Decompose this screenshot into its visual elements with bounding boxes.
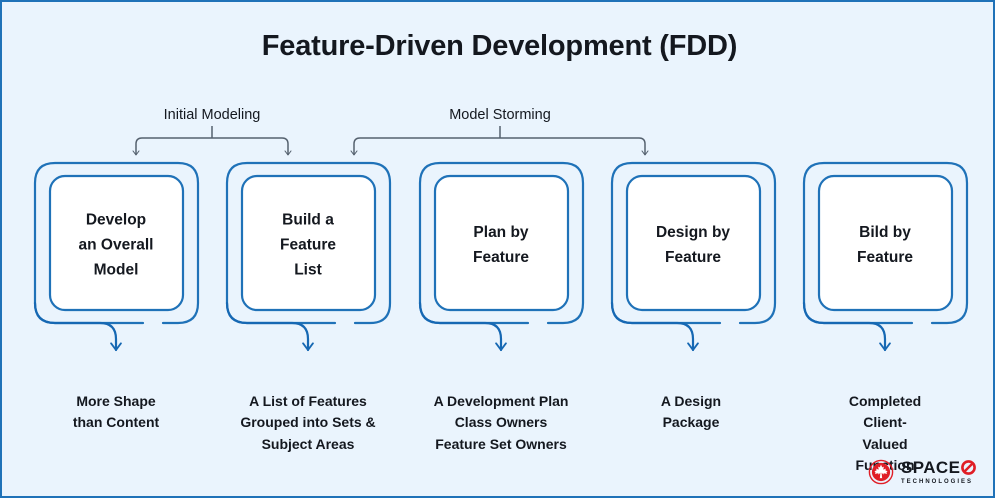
bracket-model-storming (354, 126, 645, 155)
step-label-1: Develop an Overall Model (79, 207, 154, 282)
slashed-o-icon (961, 460, 976, 475)
logo-tagline: TECHNOLOGIES (901, 479, 976, 485)
maple-leaf-badge-icon (868, 459, 894, 485)
fdd-diagram-canvas: Feature-Driven Development (FDD) Initial… (0, 0, 995, 498)
step-label-5: Bild by Feature (857, 220, 913, 270)
step-label-4: Design by Feature (656, 220, 730, 270)
phase-label-model-storming: Model Storming (449, 107, 551, 123)
outcome-caption-2: A List of Features Grouped into Sets & S… (240, 391, 375, 455)
step-label-2: Build a Feature List (280, 207, 336, 282)
step-label-3: Plan by Feature (473, 220, 529, 270)
outcome-caption-3: A Development Plan Class Owners Feature … (434, 391, 569, 455)
logo-name: SPACE (901, 459, 960, 476)
page-title: Feature-Driven Development (FDD) (2, 30, 995, 63)
phase-label-initial-modeling: Initial Modeling (164, 107, 261, 123)
brand-logo: SPACE TECHNOLOGIES (868, 456, 980, 488)
logo-name-row: SPACE (901, 459, 976, 476)
logo-wordmark: SPACE TECHNOLOGIES (901, 459, 976, 485)
outcome-caption-1: More Shape than Content (73, 391, 159, 434)
bracket-initial-modeling (136, 126, 288, 155)
outcome-caption-4: A Design Package (661, 391, 721, 434)
